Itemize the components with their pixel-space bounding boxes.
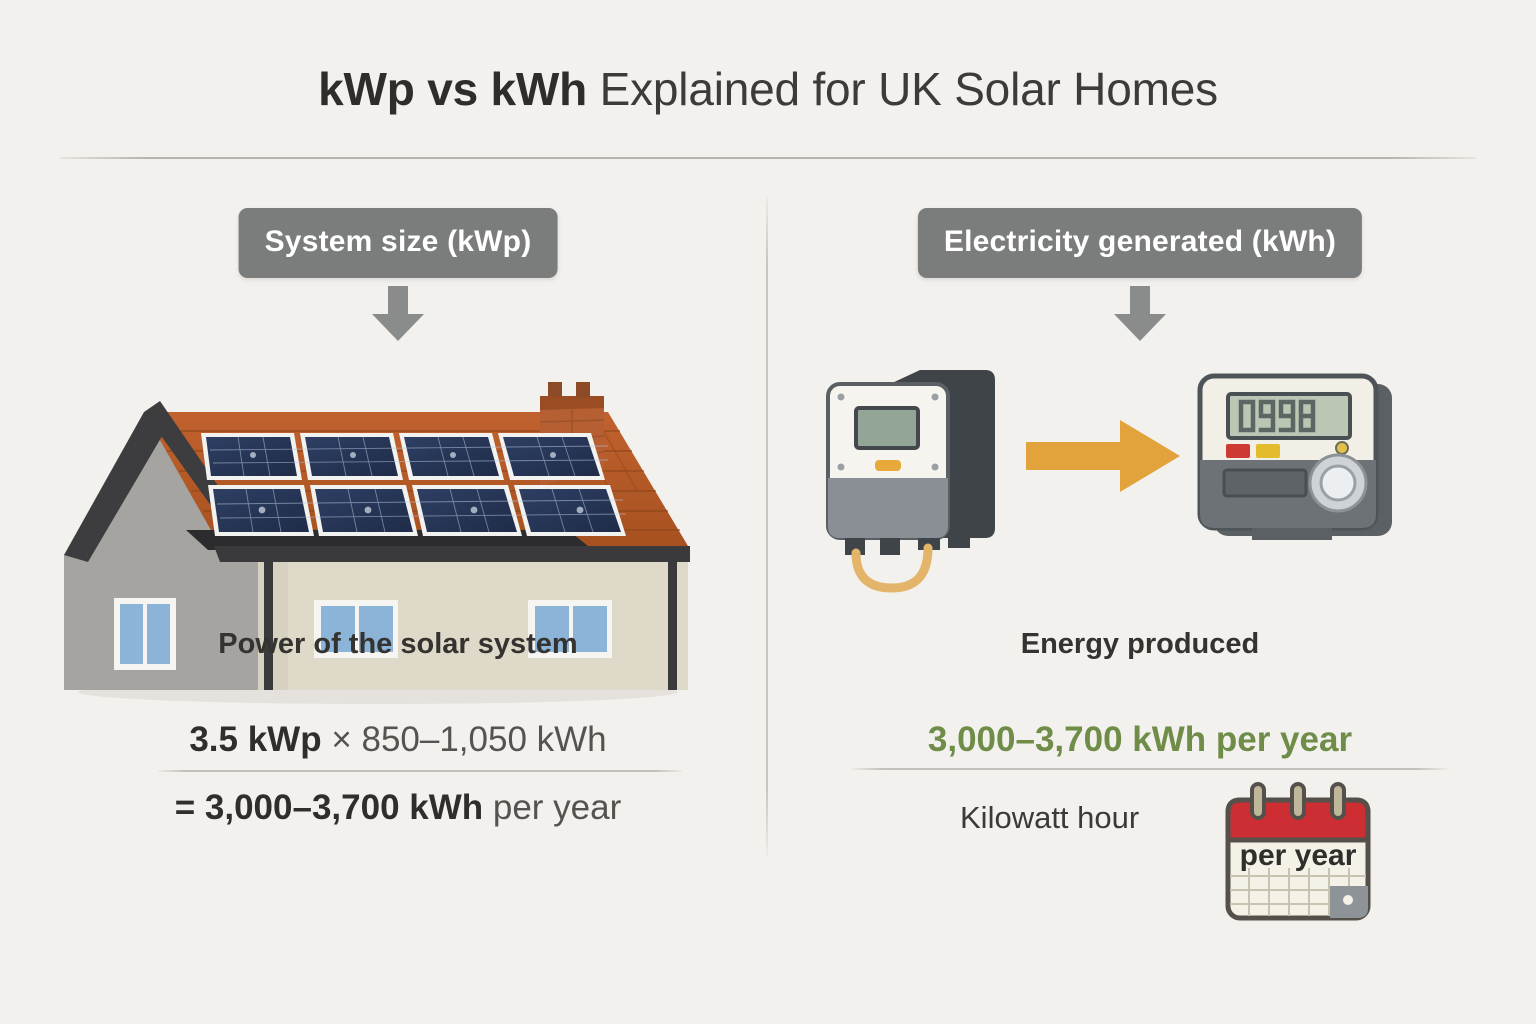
left-column: System size (kWp) (48, 180, 748, 310)
column-divider (766, 196, 768, 856)
right-caption: Energy produced (790, 628, 1490, 661)
electricity-meter-icon (1200, 376, 1392, 540)
kilowatt-hour-label: Kilowatt hour (960, 800, 1139, 836)
left-caption: Power of the solar system (48, 628, 748, 661)
title-divider (60, 157, 1476, 159)
inverter-to-meter-illustration (790, 350, 1490, 630)
calendar-icon: per year (1218, 778, 1378, 928)
calendar-text: per year (1240, 839, 1357, 872)
left-formula-line-1: 3.5 kWp × 850–1,050 kWh (48, 720, 748, 760)
left-formula-bold-1: 3.5 kWp (189, 720, 321, 759)
right-banner-wrap: Electricity generated (kWh) (790, 180, 1490, 310)
right-column: Electricity generated (kWh) (790, 180, 1490, 310)
left-banner-label: System size (kWp) (239, 208, 558, 278)
right-result-value: 3,000–3,700 kWh per year (790, 720, 1490, 760)
page-title-rest: Explained for UK Solar Homes (587, 63, 1218, 115)
page-title-strong: kWp vs kWh (318, 63, 587, 115)
right-result-divider (852, 768, 1447, 770)
left-formula-rest-1: × 850–1,050 kWh (322, 720, 607, 759)
right-banner-label: Electricity generated (kWh) (918, 208, 1362, 278)
arrow-right-icon (1026, 420, 1180, 492)
infographic-canvas: kWp vs kWh Explained for UK Solar Homes … (0, 0, 1536, 1024)
arrow-down-icon (1108, 286, 1172, 342)
solar-inverter-icon (828, 370, 995, 588)
left-formula-divider (158, 770, 682, 772)
left-formula-bold-2: = 3,000–3,700 kWh (175, 788, 483, 827)
page-title: kWp vs kWh Explained for UK Solar Homes (0, 62, 1536, 116)
left-banner-wrap: System size (kWp) (48, 180, 748, 310)
left-formula-line-2: = 3,000–3,700 kWh per year (48, 788, 748, 828)
left-formula-rest-2: per year (483, 788, 621, 827)
